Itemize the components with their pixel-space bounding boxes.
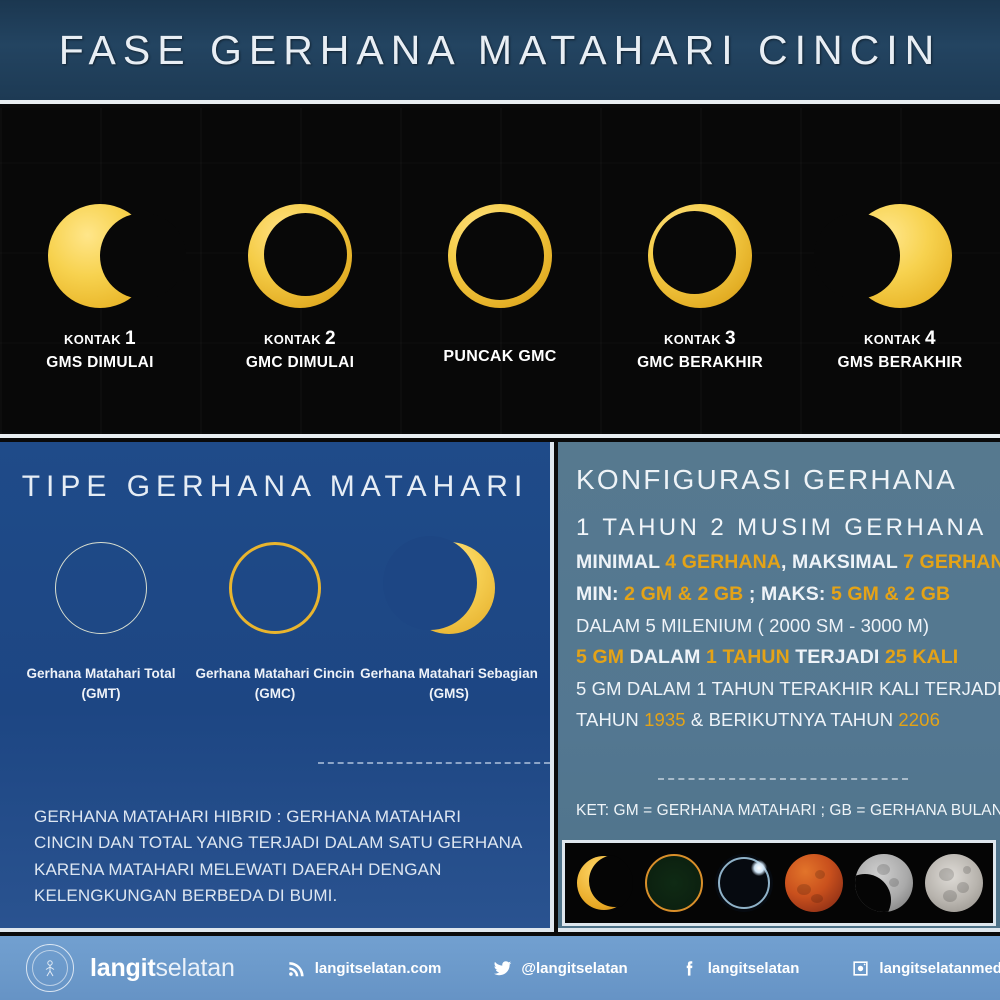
annular-ring-thick-right-icon xyxy=(648,204,752,308)
social-item-instagram[interactable]: langitselatanmedia xyxy=(851,959,1000,978)
brand-logo[interactable]: langitselatan xyxy=(26,944,235,992)
type-item-gmc: Gerhana Matahari Cincin (GMC) xyxy=(189,542,361,703)
type-label: Gerhana Matahari Cincin (GMC) xyxy=(195,664,354,703)
rss-icon xyxy=(287,959,306,978)
phase-caption: PUNCAK GMC xyxy=(443,326,556,367)
phase-item-5: KONTAK 4 GMS BERAKHIR xyxy=(800,108,1000,374)
phase-caption: KONTAK 2 GMC DIMULAI xyxy=(246,326,354,374)
config-line-5gm: 5 GM DALAM 1 TAHUN TERJADI 25 KALI xyxy=(576,646,1000,669)
config-line-minmax-gm: MIN: 2 GM & 2 GB ; MAKS: 5 GM & 2 GB xyxy=(576,583,1000,606)
seal-figure-icon xyxy=(39,957,61,979)
blood-moon-photo xyxy=(785,854,843,912)
phase-caption: KONTAK 1 GMS DIMULAI xyxy=(46,326,154,374)
partial-eclipse-crescent-icon xyxy=(403,542,495,634)
phase-contact-number: 4 xyxy=(925,328,936,349)
phase-name: PUNCAK GMC xyxy=(443,326,556,367)
partial-sun-right-bite-icon xyxy=(848,204,952,308)
type-abbr: (GMC) xyxy=(255,686,296,701)
type-name: Gerhana Matahari Total xyxy=(26,666,175,681)
phase-contact-label: KONTAK 3 xyxy=(637,326,763,351)
eclipse-photo-strip xyxy=(562,840,996,926)
config-legend-note: KET: GM = GERHANA MATAHARI ; GB = GERHAN… xyxy=(576,802,1000,820)
eclipse-configuration-panel: KONFIGURASI GERHANA 1 TAHUN 2 MUSIM GERH… xyxy=(558,442,1000,932)
social-label: langitselatanmedia xyxy=(879,960,1000,977)
brand-light: selatan xyxy=(155,954,234,982)
phase-caption: KONTAK 4 GMS BERAKHIR xyxy=(837,326,962,374)
phase-contact-number: 2 xyxy=(325,328,336,349)
social-label: @langitselatan xyxy=(521,960,627,977)
social-item-facebook[interactable]: langitselatan xyxy=(680,959,800,978)
header-banner: FASE GERHANA MATAHARI CINCIN xyxy=(0,0,1000,104)
instagram-icon xyxy=(851,959,870,978)
social-links: langitselatan.com @langitselatan langits… xyxy=(235,959,1000,978)
phase-contact-label: KONTAK 4 xyxy=(837,326,962,351)
phase-contact-number: 1 xyxy=(125,328,136,349)
type-item-gms: Gerhana Matahari Sebagian (GMS) xyxy=(363,542,535,703)
phase-item-1: KONTAK 1 GMS DIMULAI xyxy=(0,108,200,374)
facebook-icon xyxy=(680,959,699,978)
full-moon-photo xyxy=(925,854,983,912)
page-title: FASE GERHANA MATAHARI CINCIN xyxy=(59,27,941,74)
hybrid-eclipse-description: GERHANA MATAHARI HIBRID : GERHANA MATAHA… xyxy=(34,804,524,909)
brand-wordmark: langitselatan xyxy=(90,954,235,983)
config-panel-title: KONFIGURASI GERHANA xyxy=(576,464,1000,496)
phase-contact-label: KONTAK 2 xyxy=(246,326,354,351)
phase-name: GMC DIMULAI xyxy=(246,353,354,373)
types-row: Gerhana Matahari Total (GMT) Gerhana Mat… xyxy=(0,542,550,703)
type-abbr: (GMT) xyxy=(82,686,121,701)
phase-name: GMS DIMULAI xyxy=(46,353,154,373)
phase-contact-number: 3 xyxy=(725,328,736,349)
type-label: Gerhana Matahari Sebagian (GMS) xyxy=(360,664,538,703)
config-subtitle: 1 TAHUN 2 MUSIM GERHANA xyxy=(576,514,1000,542)
phase-item-2: KONTAK 2 GMC DIMULAI xyxy=(200,108,400,374)
annular-eclipse-photo xyxy=(575,854,633,912)
infographic-root: FASE GERHANA MATAHARI CINCIN KONTAK 1 GM… xyxy=(0,0,1000,1000)
eclipse-phases-section: KONTAK 1 GMS DIMULAI KONTAK 2 xyxy=(0,108,1000,438)
type-label: Gerhana Matahari Total (GMT) xyxy=(26,664,175,703)
divider-dashed-right xyxy=(658,778,908,780)
phase-item-3: PUNCAK GMC xyxy=(400,108,600,367)
phase-contact-label: KONTAK 1 xyxy=(46,326,154,351)
annular-ring-thick-left-icon xyxy=(248,204,352,308)
social-item-twitter[interactable]: @langitselatan xyxy=(493,959,627,978)
phase-caption: KONTAK 3 GMC BERAKHIR xyxy=(637,326,763,374)
types-panel-title: TIPE GERHANA MATAHARI xyxy=(0,470,550,504)
type-name: Gerhana Matahari Cincin xyxy=(195,666,354,681)
annular-ring-even-icon xyxy=(448,204,552,308)
twitter-icon xyxy=(493,959,512,978)
partial-sun-left-bite-icon xyxy=(48,204,152,308)
annular-green-filter-photo xyxy=(645,854,703,912)
annular-eclipse-ring-icon xyxy=(229,542,321,634)
social-label: langitselatan.com xyxy=(315,960,442,977)
type-name: Gerhana Matahari Sebagian xyxy=(360,666,538,681)
eclipse-types-panel: TIPE GERHANA MATAHARI Gerhana Matahari T… xyxy=(0,442,554,932)
type-item-gmt: Gerhana Matahari Total (GMT) xyxy=(15,542,187,703)
config-line-terakhir-1: 5 GM DALAM 1 TAHUN TERAKHIR KALI TERJADI xyxy=(576,678,1000,700)
config-line-min-max: MINIMAL 4 GERHANA, MAKSIMAL 7 GERHANA xyxy=(576,551,1000,574)
config-line-terakhir-2: TAHUN 1935 & BERIKUTNYA TAHUN 2206 xyxy=(576,709,1000,731)
type-abbr: (GMS) xyxy=(429,686,469,701)
social-label: langitselatan xyxy=(708,960,800,977)
divider-dashed-left xyxy=(318,762,550,764)
social-item-website[interactable]: langitselatan.com xyxy=(287,959,442,978)
phase-name: GMS BERAKHIR xyxy=(837,353,962,373)
footer-bar: langitselatan langitselatan.com @langits… xyxy=(0,936,1000,1000)
partial-lunar-eclipse-photo xyxy=(855,854,913,912)
phase-row: KONTAK 1 GMS DIMULAI KONTAK 2 xyxy=(0,108,1000,438)
phase-item-4: KONTAK 3 GMC BERAKHIR xyxy=(600,108,800,374)
config-line-milenium: DALAM 5 MILENIUM ( 2000 SM - 3000 M) xyxy=(576,615,1000,637)
brand-bold: langit xyxy=(90,954,155,982)
total-eclipse-circle-icon xyxy=(55,542,147,634)
phase-name: GMC BERAKHIR xyxy=(637,353,763,373)
langitselatan-seal-icon xyxy=(26,944,74,992)
diamond-ring-photo xyxy=(715,854,773,912)
